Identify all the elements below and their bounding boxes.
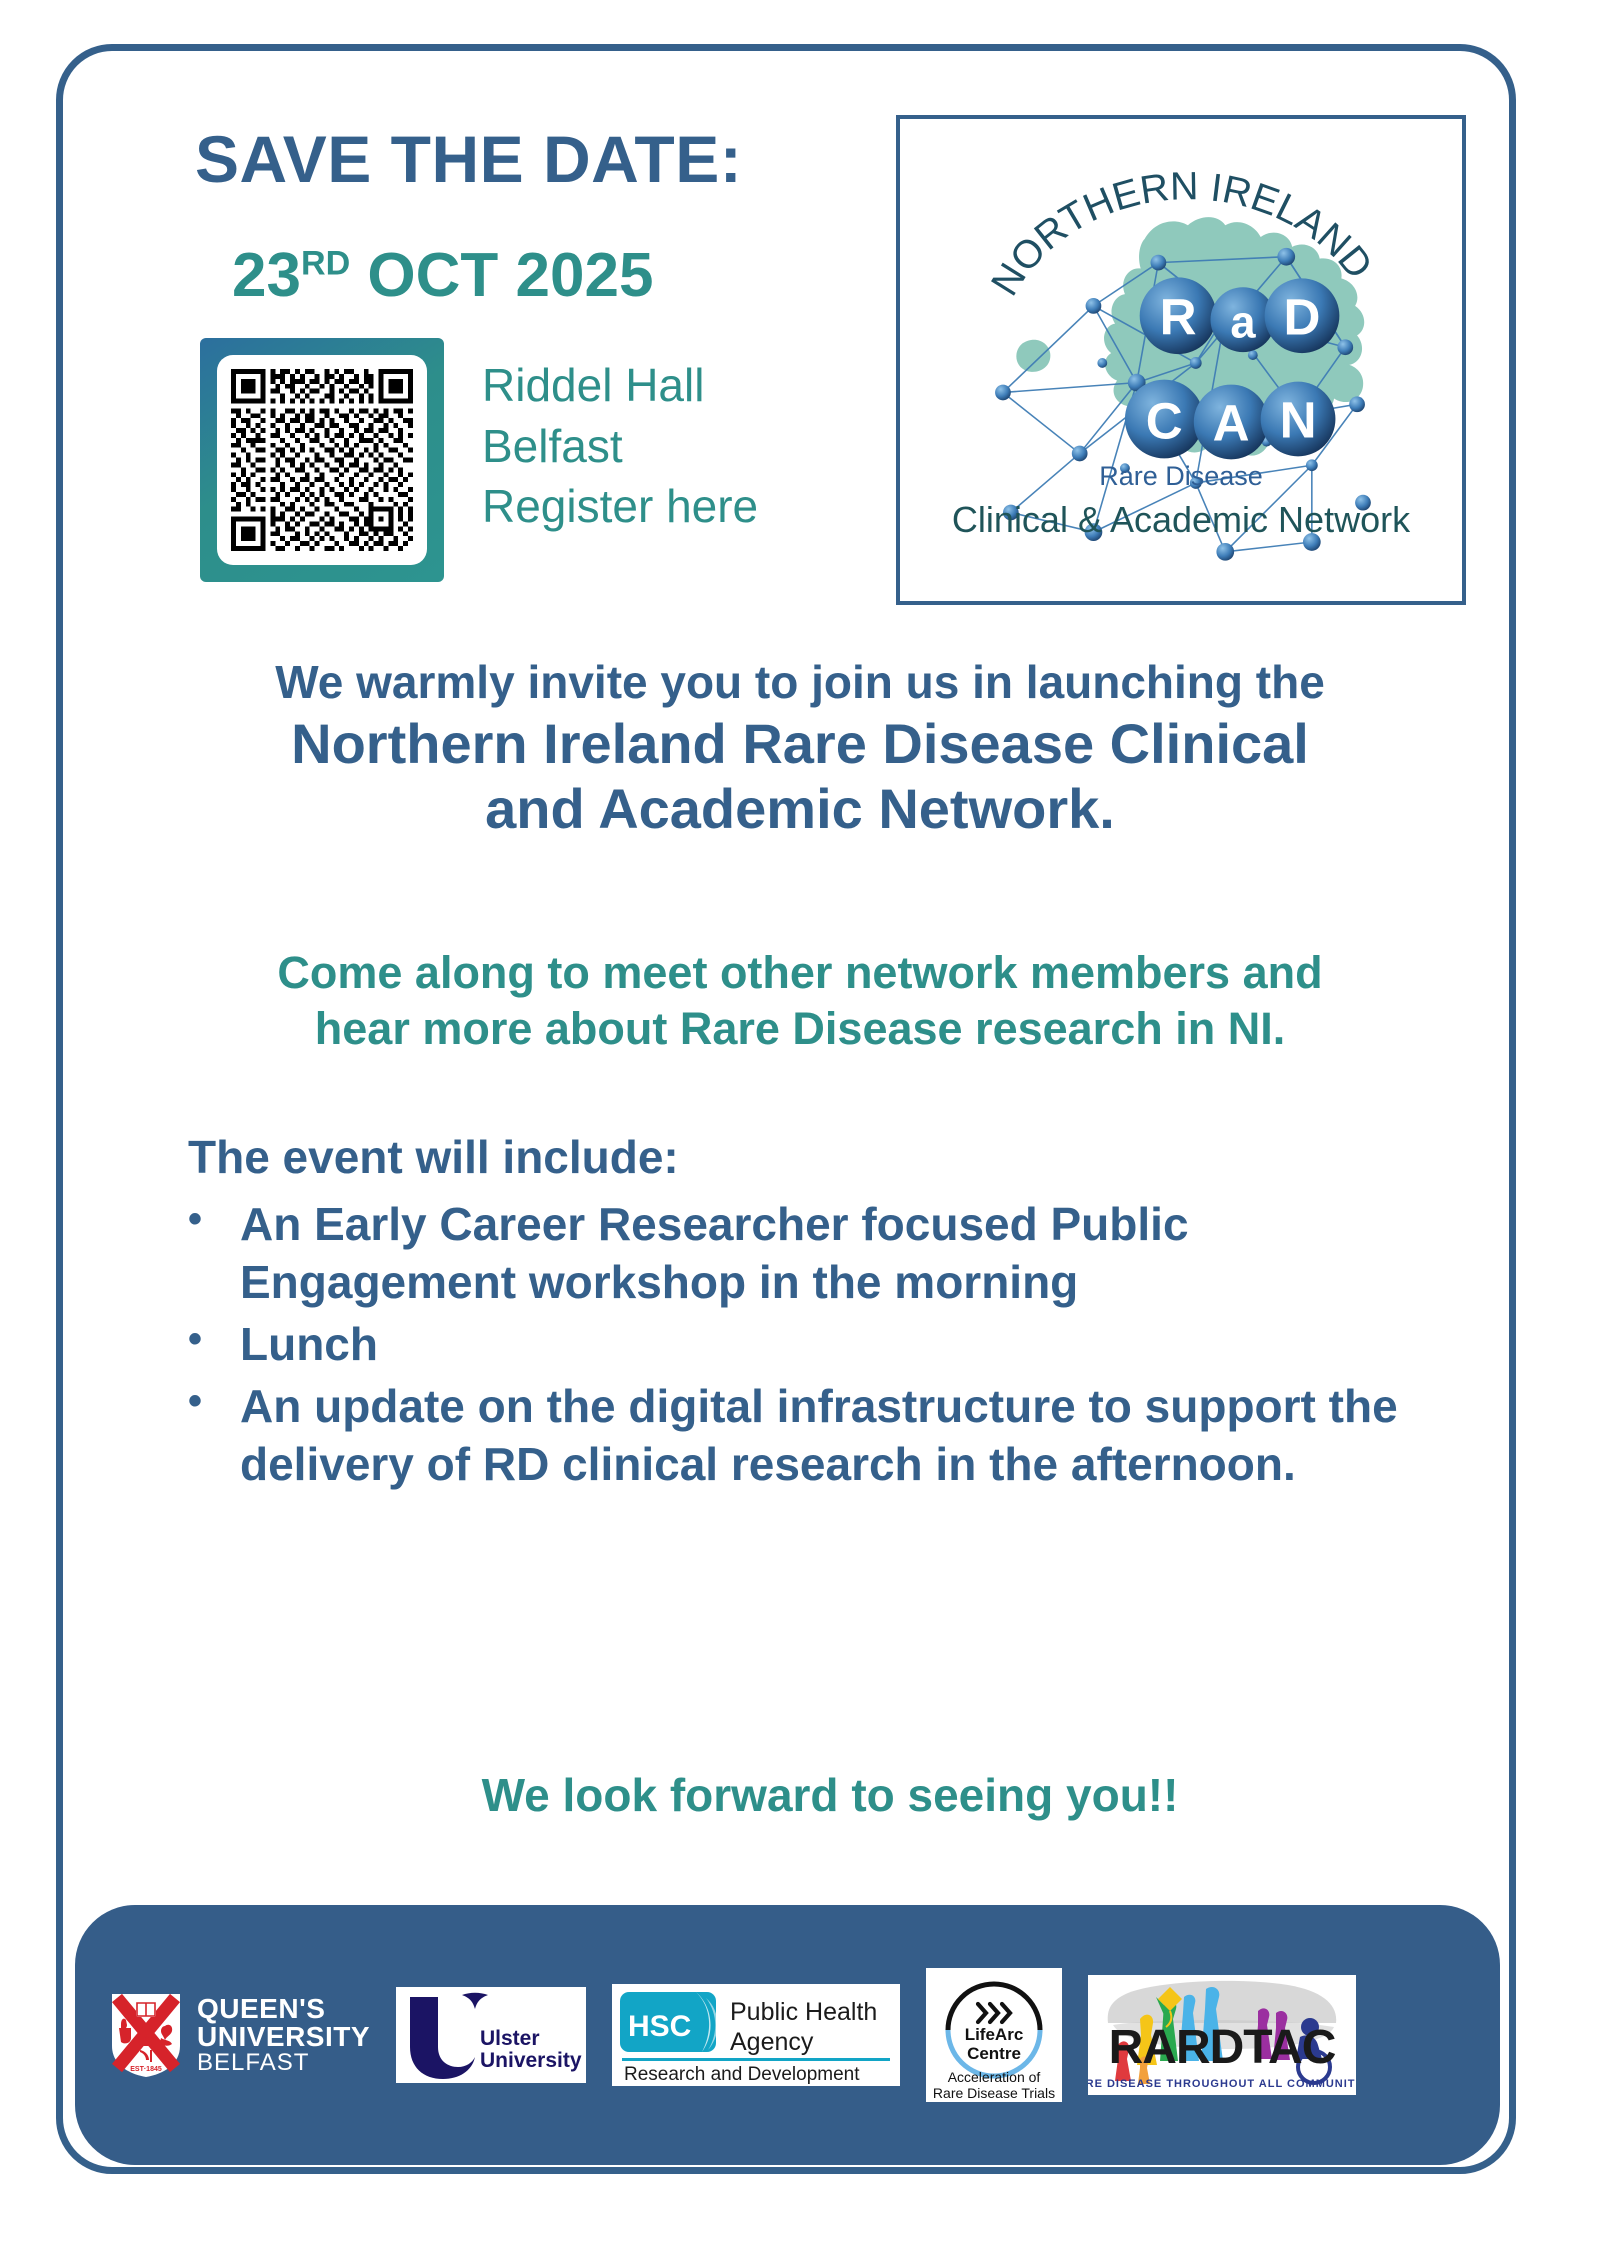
radcan-node-a: a [1230, 296, 1256, 347]
come-along-line-1: Come along to meet other network members… [110, 945, 1490, 1001]
logo-hsc-public-health-agency: HSC Public Health Agency Research and De… [612, 1984, 900, 2086]
venue-line-1: Riddel Hall [482, 355, 758, 416]
invite-line: We warmly invite you to join us in launc… [100, 655, 1500, 709]
radcan-caption-network: Clinical & Academic Network [900, 499, 1462, 541]
logo-ulster-university: Ulster University [396, 1987, 586, 2083]
event-date: 23RD OCT 2025 [232, 245, 653, 307]
come-along-line-2: hear more about Rare Disease research in… [110, 1001, 1490, 1057]
queens-crest-motto: EST·1845 [130, 2066, 162, 2073]
radcan-node-R: R [1160, 288, 1197, 345]
closing-text: We look forward to seeing you!! [200, 1768, 1460, 1822]
logo-queens-university-belfast: EST·1845 QUEEN'S UNIVERSITY BELFAST [109, 1992, 370, 2078]
pha-line-2: Agency [730, 2028, 814, 2056]
event-include-heading: The event will include: [188, 1130, 679, 1184]
radcan-node-C: C [1146, 393, 1183, 450]
lifearc-line-2: Centre [967, 2044, 1021, 2063]
ulster-university-graphic: Ulster University [396, 1987, 586, 2083]
pha-graphic: HSC Public Health Agency Research and De… [612, 1984, 900, 2086]
rardtac-graphic: RARDTAC RARE DISEASE THROUGHOUT ALL COMM… [1088, 1975, 1356, 2095]
network-name-heading: Northern Ireland Rare Disease Clinical a… [100, 712, 1500, 842]
poster-root: SAVE THE DATE: 23RD OCT 2025 [0, 0, 1599, 2262]
lifearc-graphic: LifeArc Centre Acceleration of Rare Dise… [926, 1968, 1062, 2102]
venue-details: Riddel Hall Belfast Register here [482, 355, 758, 537]
pha-line-3: Research and Development [624, 2064, 860, 2085]
network-name-line-1: Northern Ireland Rare Disease Clinical [100, 712, 1500, 777]
qr-code-icon[interactable] [231, 369, 413, 551]
rardtac-tagline: RARE DISEASE THROUGHOUT ALL COMMUNITIES [1088, 2078, 1356, 2090]
queens-wordmark: QUEEN'S UNIVERSITY BELFAST [197, 1995, 370, 2075]
qr-code-inner [217, 355, 427, 565]
event-bullet-list: An Early Career Researcher focused Publi… [180, 1196, 1440, 1498]
partner-logos-footer: EST·1845 QUEEN'S UNIVERSITY BELFAST Ulst… [75, 1905, 1500, 2165]
lifearc-line-1: LifeArc [965, 2025, 1024, 2044]
ulster-line-1: Ulster [480, 2027, 540, 2050]
queens-line-1: QUEEN'S [197, 1995, 370, 2023]
radcan-logo: NORTHERN IRELAND [896, 115, 1466, 605]
pha-line-1: Public Health [730, 1998, 877, 2026]
event-date-rest: OCT 2025 [350, 241, 653, 310]
list-item: An Early Career Researcher focused Publi… [180, 1196, 1440, 1312]
lifearc-line-3: Acceleration of [948, 2069, 1041, 2085]
come-along-text: Come along to meet other network members… [110, 945, 1490, 1058]
rardtac-wordmark: RARDTAC [1109, 2021, 1336, 2074]
radcan-node-N: N [1280, 392, 1317, 449]
queens-line-3: BELFAST [197, 2051, 370, 2075]
ulster-line-2: University [480, 2049, 582, 2072]
logo-lifearc-centre: LifeArc Centre Acceleration of Rare Dise… [926, 1968, 1062, 2102]
queens-line-2: UNIVERSITY [197, 2023, 370, 2051]
network-name-line-2: and Academic Network. [100, 777, 1500, 842]
qr-code-frame[interactable] [200, 338, 444, 582]
event-date-day: 23 [232, 241, 301, 310]
list-item: Lunch [180, 1316, 1440, 1374]
poster-header: SAVE THE DATE: 23RD OCT 2025 [0, 0, 1599, 600]
lifearc-line-4: Rare Disease Trials [933, 2085, 1055, 2101]
radcan-caption-rare-disease: Rare Disease [900, 461, 1462, 492]
event-date-ordinal: RD [301, 244, 350, 282]
radcan-node-D: D [1284, 288, 1321, 345]
list-item: An update on the digital infrastructure … [180, 1378, 1440, 1494]
logo-rardtac: RARDTAC RARE DISEASE THROUGHOUT ALL COMM… [1088, 1975, 1356, 2095]
venue-line-2: Belfast [482, 416, 758, 477]
radcan-node-A: A [1213, 395, 1250, 452]
save-the-date-heading: SAVE THE DATE: [195, 126, 742, 192]
queens-crest-icon: EST·1845 [109, 1992, 183, 2078]
hsc-badge-text: HSC [628, 2010, 691, 2043]
register-here-text[interactable]: Register here [482, 476, 758, 537]
